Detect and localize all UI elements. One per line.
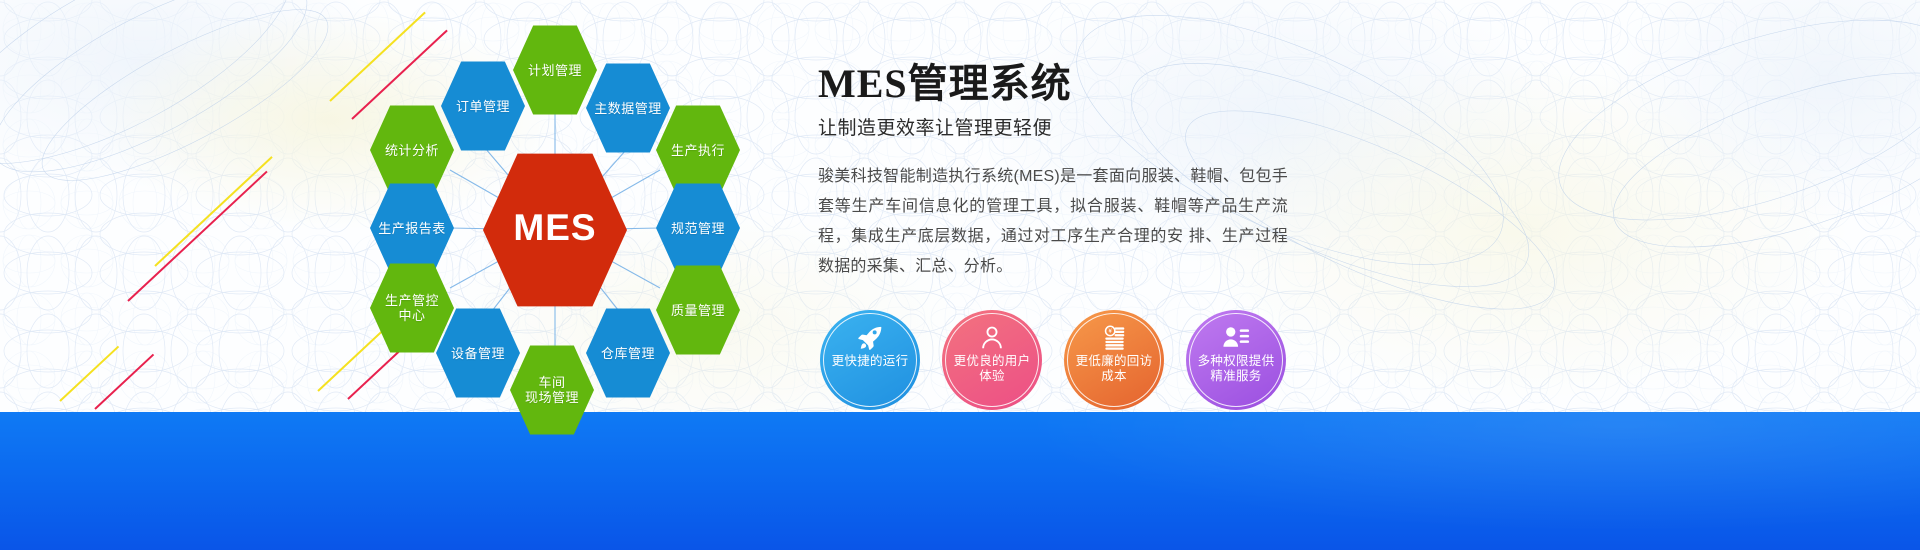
feature-badge[interactable]: 更快捷的运行 (820, 310, 920, 410)
hex-node[interactable] (370, 183, 454, 272)
page-subtitle: 让制造更效率让管理更轻便 (818, 113, 1288, 140)
svg-text:¥: ¥ (1109, 329, 1113, 335)
accent-line (94, 354, 154, 410)
hex-node[interactable] (656, 105, 740, 194)
feature-badge-row: 更快捷的运行更优良的用户 体验¥更低廉的回访 成本多种权限提供 精准服务 (820, 310, 1300, 410)
headline-block: MES管理系统 让制造更效率让管理更轻便 骏美科技智能制造执行系统(MES)是一… (818, 62, 1288, 282)
badge-label: 更低廉的回访 成本 (1076, 354, 1153, 384)
hex-node[interactable] (586, 63, 670, 152)
feature-badge[interactable]: ¥更低廉的回访 成本 (1064, 310, 1164, 410)
feature-badge[interactable]: 更优良的用户 体验 (942, 310, 1042, 410)
badge-label: 多种权限提供 精准服务 (1198, 354, 1275, 384)
contact-icon (1221, 323, 1251, 353)
hex-node[interactable] (586, 308, 670, 397)
description-paragraph: 骏美科技智能制造执行系统(MES)是一套面向服装、鞋帽、包包手套等生产车间信息化… (818, 162, 1288, 282)
feature-badge[interactable]: 多种权限提供 精准服务 (1186, 310, 1286, 410)
hex-node[interactable] (370, 263, 454, 352)
accent-line (154, 156, 272, 267)
mes-promo-banner: 计划管理订单管理主数据管理统计分析生产执行生产报告表规范管理生产管控 中心质量管… (0, 0, 1920, 550)
bottom-blue-band (0, 412, 1920, 550)
hex-node[interactable] (656, 183, 740, 272)
hex-node[interactable] (513, 25, 597, 114)
hex-node[interactable] (370, 105, 454, 194)
mes-hexagon-diagram: 计划管理订单管理主数据管理统计分析生产执行生产报告表规范管理生产管控 中心质量管… (330, 20, 810, 440)
hex-node[interactable] (441, 61, 525, 150)
page-title: MES管理系统 (818, 62, 1288, 105)
hex-node[interactable] (656, 265, 740, 354)
badge-label: 更快捷的运行 (832, 354, 909, 369)
coins-icon: ¥ (1099, 323, 1129, 353)
accent-line (127, 171, 267, 302)
hex-node[interactable] (510, 345, 594, 434)
badge-label: 更优良的用户 体验 (954, 354, 1031, 384)
hex-center-label: MES (490, 207, 620, 249)
user-icon (977, 323, 1007, 353)
rocket-icon (855, 323, 885, 353)
hex-node[interactable] (436, 308, 520, 397)
